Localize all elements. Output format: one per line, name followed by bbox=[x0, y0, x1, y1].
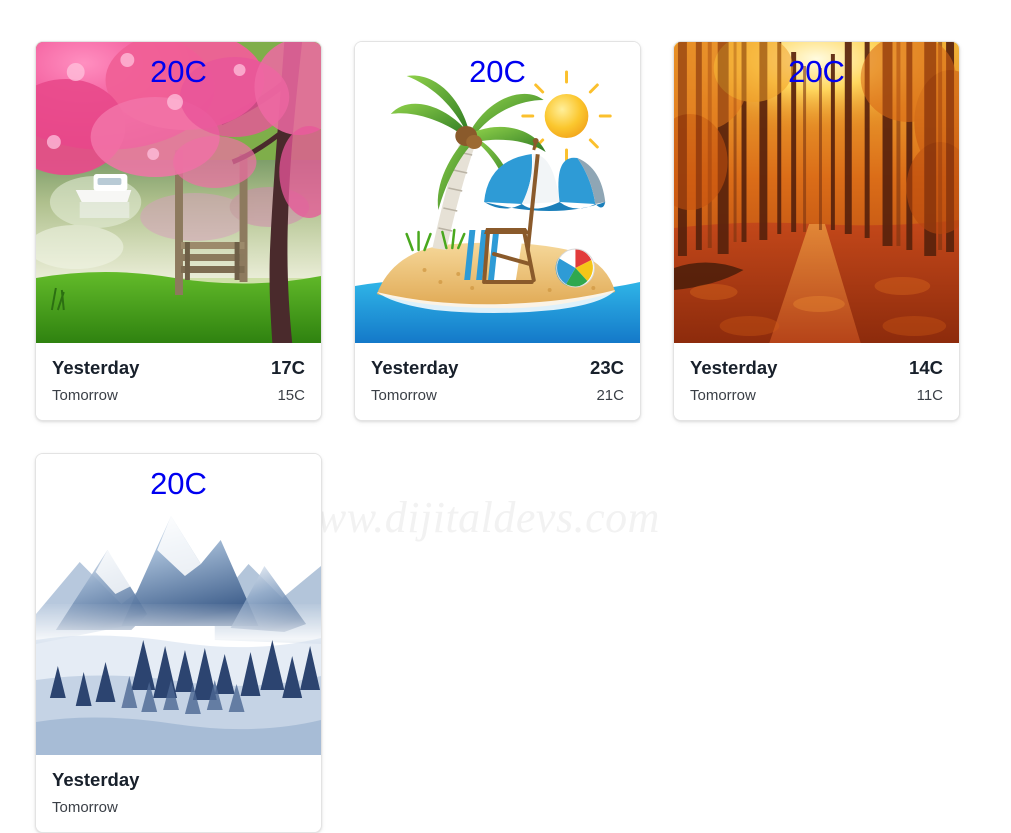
winter-mountain-watercolor-illustration bbox=[36, 454, 321, 755]
card-body-summer: Yesterday 23C Tomorrow 21C bbox=[355, 343, 640, 420]
summer-beach-palm-umbrella-illustration bbox=[355, 42, 640, 343]
yesterday-label: Yesterday bbox=[52, 357, 139, 379]
tomorrow-label: Tomorrow bbox=[690, 387, 756, 404]
card-media-autumn: 20C bbox=[674, 42, 959, 343]
card-body-autumn: Yesterday 14C Tomorrow 11C bbox=[674, 343, 959, 420]
card-body-spring: Yesterday 17C Tomorrow 15C bbox=[36, 343, 321, 420]
spring-cherry-blossom-lake-photo bbox=[36, 42, 321, 343]
card-media-winter: 20C bbox=[36, 454, 321, 755]
weather-card-spring[interactable]: 20C Yesterday 17C Tomorrow 15C bbox=[35, 41, 322, 421]
weather-card-winter[interactable]: 20C Yesterday Tomorrow bbox=[35, 453, 322, 833]
card-media-summer: 20C bbox=[355, 42, 640, 343]
forecast-row-yesterday: Yesterday 23C bbox=[371, 357, 624, 379]
yesterday-temp: 23C bbox=[590, 357, 624, 379]
weather-card-summer[interactable]: 20C Yesterday 23C Tomorrow 21C bbox=[354, 41, 641, 421]
autumn-forest-path-photo bbox=[674, 42, 959, 343]
weather-card-autumn[interactable]: 20C Yesterday 14C Tomorrow 11C bbox=[673, 41, 960, 421]
yesterday-label: Yesterday bbox=[52, 769, 139, 791]
weather-card-grid: 20C Yesterday 17C Tomorrow 15C bbox=[35, 41, 995, 833]
tomorrow-temp: 15C bbox=[277, 387, 305, 404]
forecast-row-yesterday: Yesterday 17C bbox=[52, 357, 305, 379]
tomorrow-label: Tomorrow bbox=[371, 387, 437, 404]
forecast-row-tomorrow: Tomorrow 11C bbox=[690, 387, 943, 404]
yesterday-temp: 14C bbox=[909, 357, 943, 379]
yesterday-label: Yesterday bbox=[371, 357, 458, 379]
yesterday-label: Yesterday bbox=[690, 357, 777, 379]
forecast-row-tomorrow: Tomorrow bbox=[52, 799, 305, 816]
card-media-spring: 20C bbox=[36, 42, 321, 343]
tomorrow-label: Tomorrow bbox=[52, 799, 118, 816]
tomorrow-label: Tomorrow bbox=[52, 387, 118, 404]
beach-ball-shape bbox=[556, 249, 595, 287]
forecast-row-tomorrow: Tomorrow 21C bbox=[371, 387, 624, 404]
forecast-row-tomorrow: Tomorrow 15C bbox=[52, 387, 305, 404]
forecast-row-yesterday: Yesterday 14C bbox=[690, 357, 943, 379]
yesterday-temp: 17C bbox=[271, 357, 305, 379]
tomorrow-temp: 11C bbox=[917, 387, 943, 404]
forecast-row-yesterday: Yesterday bbox=[52, 769, 305, 791]
tomorrow-temp: 21C bbox=[596, 387, 624, 404]
card-body-winter: Yesterday Tomorrow bbox=[36, 755, 321, 832]
